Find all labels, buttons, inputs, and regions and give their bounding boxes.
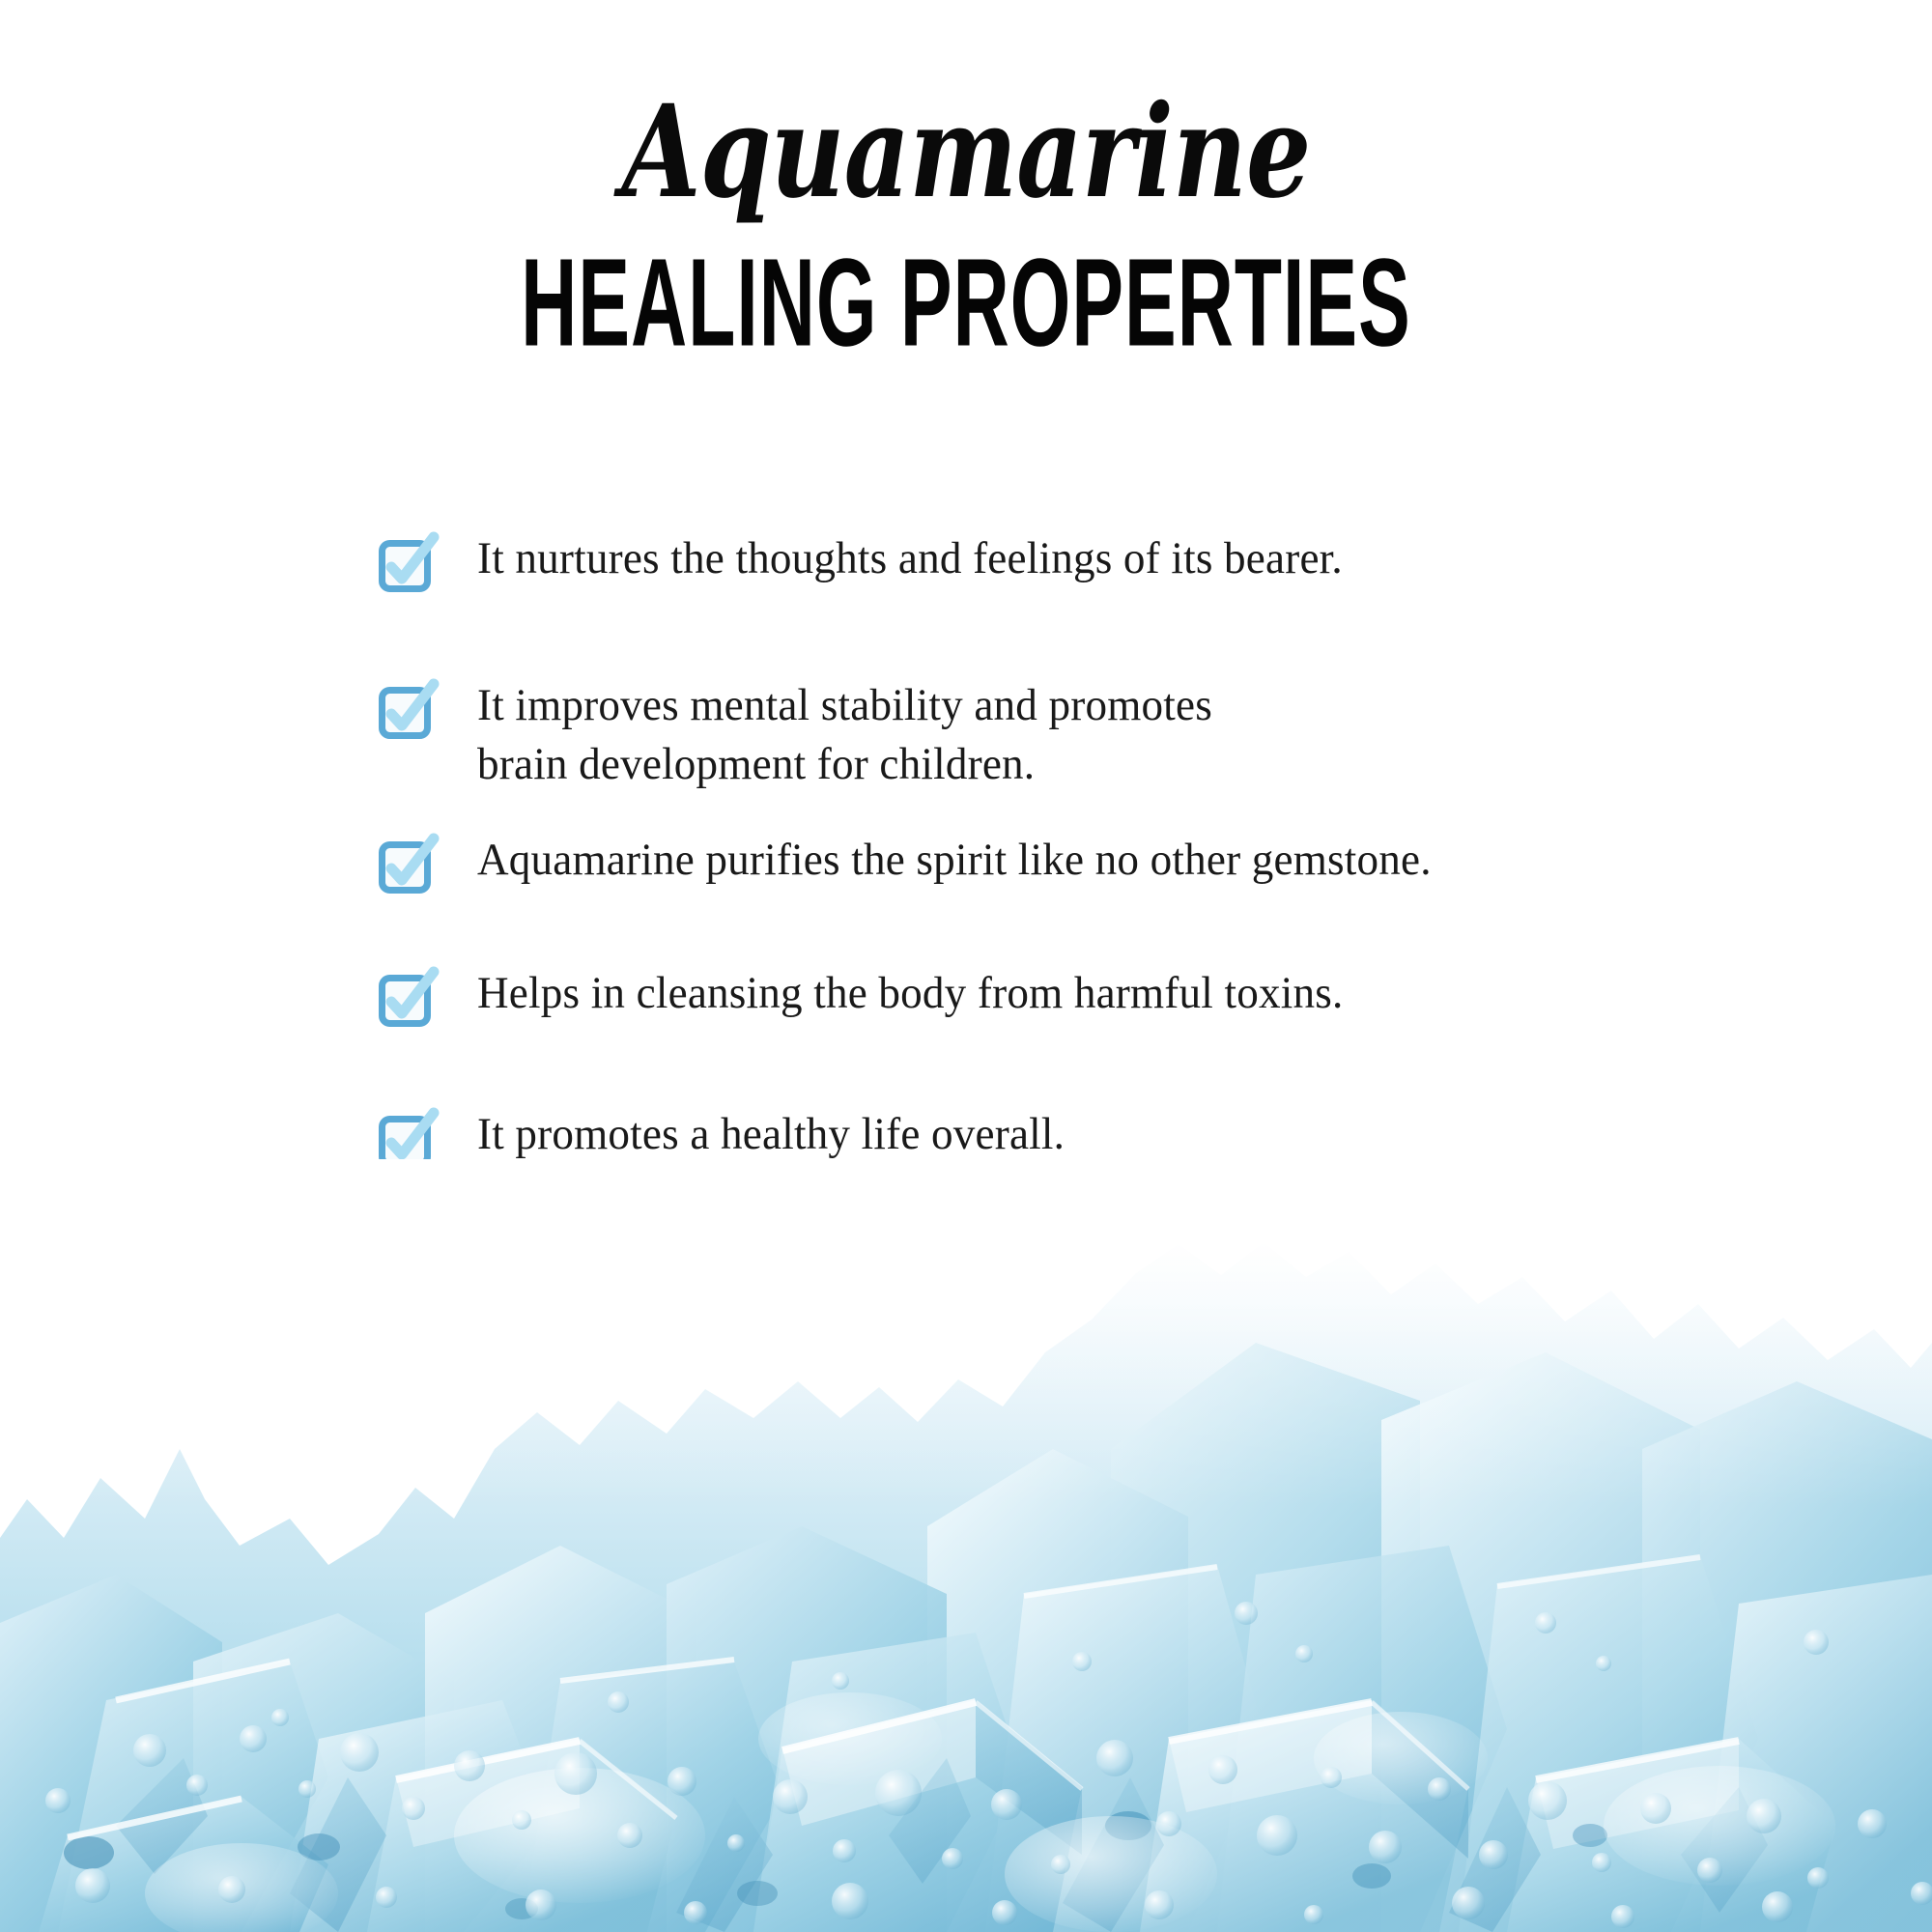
spacer: [379, 593, 1808, 676]
page-title: Aquamarine: [193, 89, 1739, 216]
healing-properties-list: It nurtures the thoughts and feelings of…: [379, 529, 1808, 1169]
list-item-label: It nurtures the thoughts and feelings of…: [477, 529, 1343, 588]
list-item-label: Helps in cleansing the body from harmful…: [477, 964, 1343, 1023]
ice-cubes-photo: [0, 1159, 1932, 1932]
page-subtitle: HEALING PROPERTIES: [328, 240, 1604, 364]
list-item: It promotes a healthy life overall.: [379, 1105, 1808, 1169]
list-item-label: Aquamarine purifies the spirit like no o…: [477, 831, 1432, 890]
spacer: [379, 794, 1808, 831]
checked-checkbox-icon: [379, 535, 437, 593]
list-item: It improves mental stability and promote…: [379, 676, 1808, 794]
checked-checkbox-icon: [379, 682, 437, 740]
checked-checkbox-icon: [379, 1111, 437, 1169]
list-item: It nurtures the thoughts and feelings of…: [379, 529, 1808, 593]
checked-checkbox-icon: [379, 837, 437, 895]
list-item: Aquamarine purifies the spirit like no o…: [379, 831, 1808, 895]
header-block: Aquamarine HEALING PROPERTIES: [0, 0, 1932, 361]
list-item-label: It improves mental stability and promote…: [477, 676, 1212, 794]
poster-canvas: Aquamarine HEALING PROPERTIES It nurture…: [0, 0, 1932, 1932]
spacer: [379, 895, 1808, 964]
list-item: Helps in cleansing the body from harmful…: [379, 964, 1808, 1028]
checked-checkbox-icon: [379, 970, 437, 1028]
list-item-label: It promotes a healthy life overall.: [477, 1105, 1065, 1164]
spacer: [379, 1028, 1808, 1105]
